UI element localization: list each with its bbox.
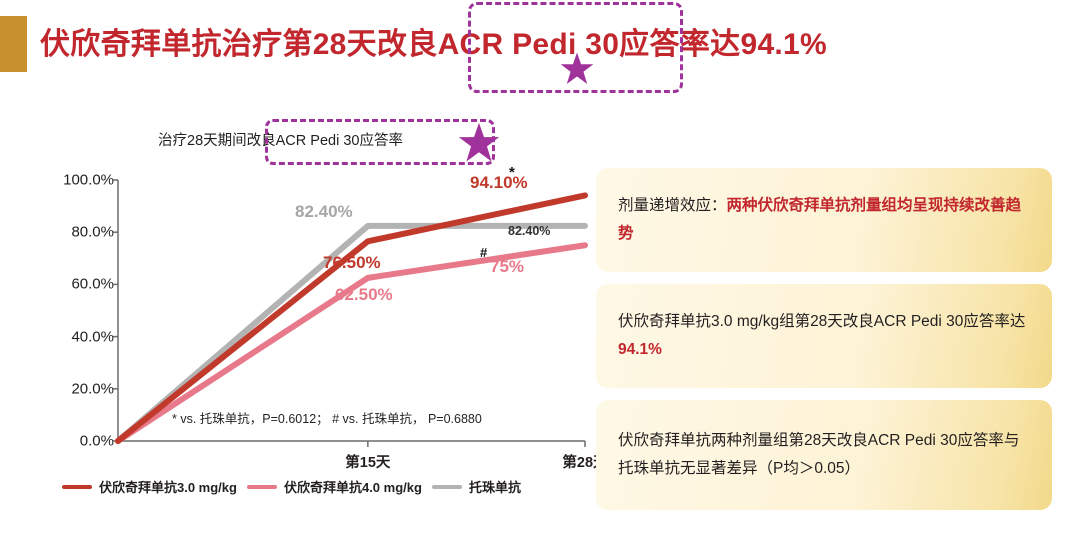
legend-swatch <box>62 485 92 489</box>
legend-label: 托珠单抗 <box>469 477 521 496</box>
insight-highlight-text: 94.1% <box>618 341 662 358</box>
legend-item: 托珠单抗 <box>432 477 521 496</box>
data-label-4mgkg-day15: 62.50% <box>335 285 393 305</box>
star-icon <box>560 52 594 86</box>
insight-lead-text: 伏欣奇拜单抗两种剂量组第28天改良ACR Pedi 30应答率与托珠单抗无显著差… <box>618 432 1019 477</box>
insight-lead-text: 伏欣奇拜单抗3.0 mg/kg组第28天改良ACR Pedi 30应答率达 <box>618 313 1025 330</box>
data-label-tocilizumab-day28: 82.40% <box>508 224 550 238</box>
insight-lead-text: 剂量递增效应： <box>618 197 727 214</box>
chart-container: 治疗28天期间改良ACR Pedi 30应答率 0.0%20.0%40.0%60… <box>40 105 600 515</box>
legend-label: 伏欣奇拜单抗3.0 mg/kg <box>99 477 237 496</box>
legend-swatch <box>432 485 462 489</box>
insight-card-no-significant-difference: 伏欣奇拜单抗两种剂量组第28天改良ACR Pedi 30应答率与托珠单抗无显著差… <box>596 400 1052 510</box>
insight-card-text: 剂量递增效应：两种伏欣奇拜单抗剂量组均呈现持续改善趋势 <box>618 192 1030 247</box>
insight-card-response-rate: 伏欣奇拜单抗3.0 mg/kg组第28天改良ACR Pedi 30应答率达94.… <box>596 284 1052 388</box>
legend-item: 伏欣奇拜单抗4.0 mg/kg <box>247 477 422 496</box>
data-label-3mgkg-day28: 94.10% <box>470 173 528 193</box>
chart-legend: 伏欣奇拜单抗3.0 mg/kg伏欣奇拜单抗4.0 mg/kg托珠单抗 <box>62 477 602 496</box>
insight-card-dose-escalation: 剂量递增效应：两种伏欣奇拜单抗剂量组均呈现持续改善趋势 <box>596 168 1052 272</box>
x-axis-tick-label: 第15天 <box>345 451 390 472</box>
accent-bar <box>0 16 27 72</box>
insight-card-text: 伏欣奇拜单抗3.0 mg/kg组第28天改良ACR Pedi 30应答率达94.… <box>618 308 1030 363</box>
line-chart-plot <box>40 105 600 515</box>
data-label-4mgkg-day28: 75% <box>490 257 524 277</box>
insight-card-text: 伏欣奇拜单抗两种剂量组第28天改良ACR Pedi 30应答率与托珠单抗无显著差… <box>618 427 1030 482</box>
legend-label: 伏欣奇拜单抗4.0 mg/kg <box>284 477 422 496</box>
legend-swatch <box>247 485 277 489</box>
data-label-tocilizumab-day15: 82.40% <box>295 202 353 222</box>
data-label-3mgkg-day15: 76.50% <box>323 253 381 273</box>
legend-item: 伏欣奇拜单抗3.0 mg/kg <box>62 477 237 496</box>
chart-footnote: * vs. 托珠单抗，P=0.6012； # vs. 托珠单抗， P=0.688… <box>172 408 482 427</box>
significance-hash-marker: # <box>480 245 487 260</box>
